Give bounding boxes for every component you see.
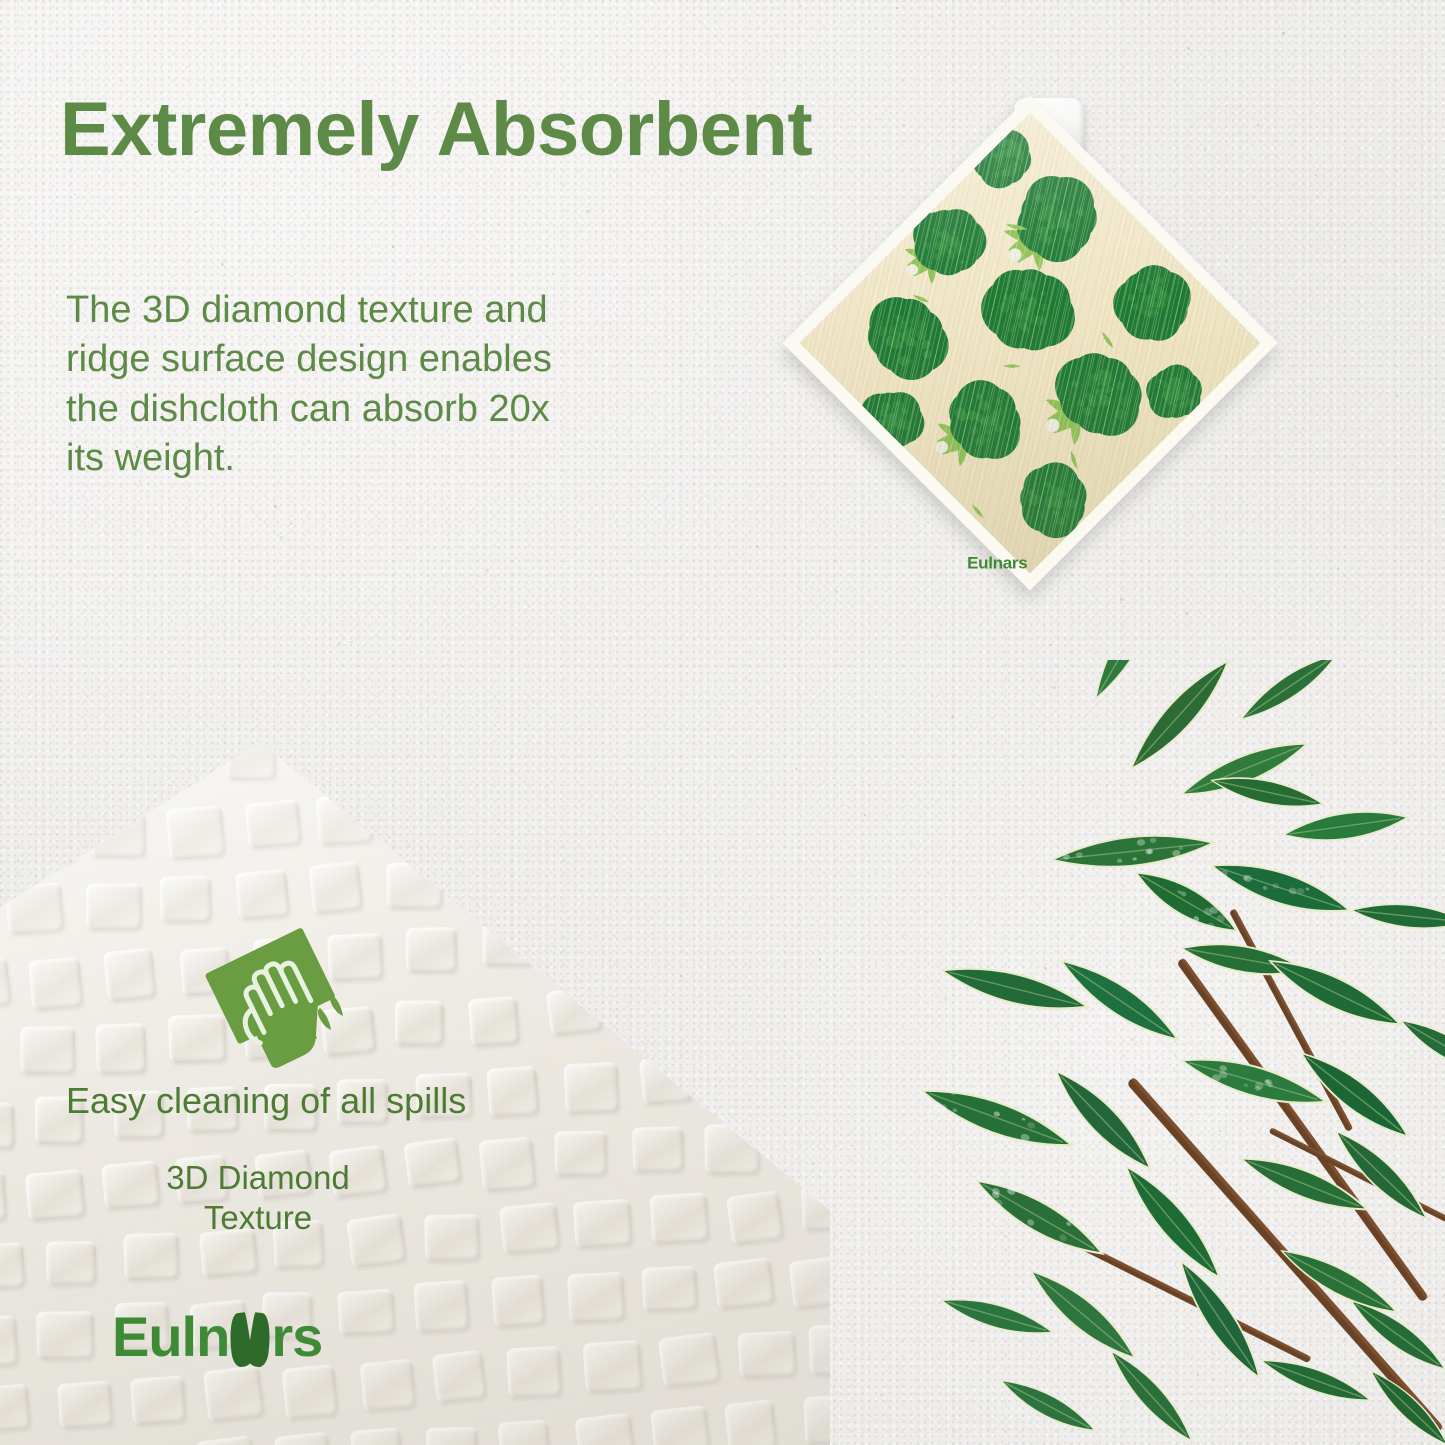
hand-wiping-cloth-icon (190, 928, 370, 1068)
broccoli-pattern (799, 112, 1260, 573)
plant-foliage (880, 660, 1445, 1445)
product-marketing-image: Eulnars Extremely Absorbent The 3D diamo… (0, 0, 1445, 1445)
texture-label-line-2: Texture (68, 1198, 448, 1238)
brand-name-part-1: Euln (112, 1309, 229, 1365)
brand-name-part-2: rs (271, 1309, 322, 1365)
leaf-a-icon (230, 1311, 270, 1367)
cloth-brand-logo: Eulnars (967, 554, 1027, 574)
brand-logo: Euln rs (112, 1303, 322, 1365)
description-line-1: The 3D diamond texture and (66, 286, 626, 335)
texture-label-line-1: 3D Diamond (68, 1158, 448, 1198)
page-title: Extremely Absorbent (60, 86, 812, 173)
variegated-plant (880, 660, 1445, 1445)
texture-label: 3D Diamond Texture (68, 1158, 448, 1239)
feature-tagline: Easy cleaning of all spills (66, 1080, 466, 1122)
description-line-2: ridge surface design enables (66, 335, 626, 384)
broccoli-dishcloth: Eulnars (783, 96, 1278, 591)
brand-logo-text: Euln rs (112, 1309, 322, 1365)
description-text: The 3D diamond texture and ridge surface… (66, 286, 626, 484)
description-line-4: its weight. (66, 434, 626, 483)
dishcloth-printed-area (799, 112, 1260, 573)
description-line-3: the dishcloth can absorb 20x (66, 385, 626, 434)
